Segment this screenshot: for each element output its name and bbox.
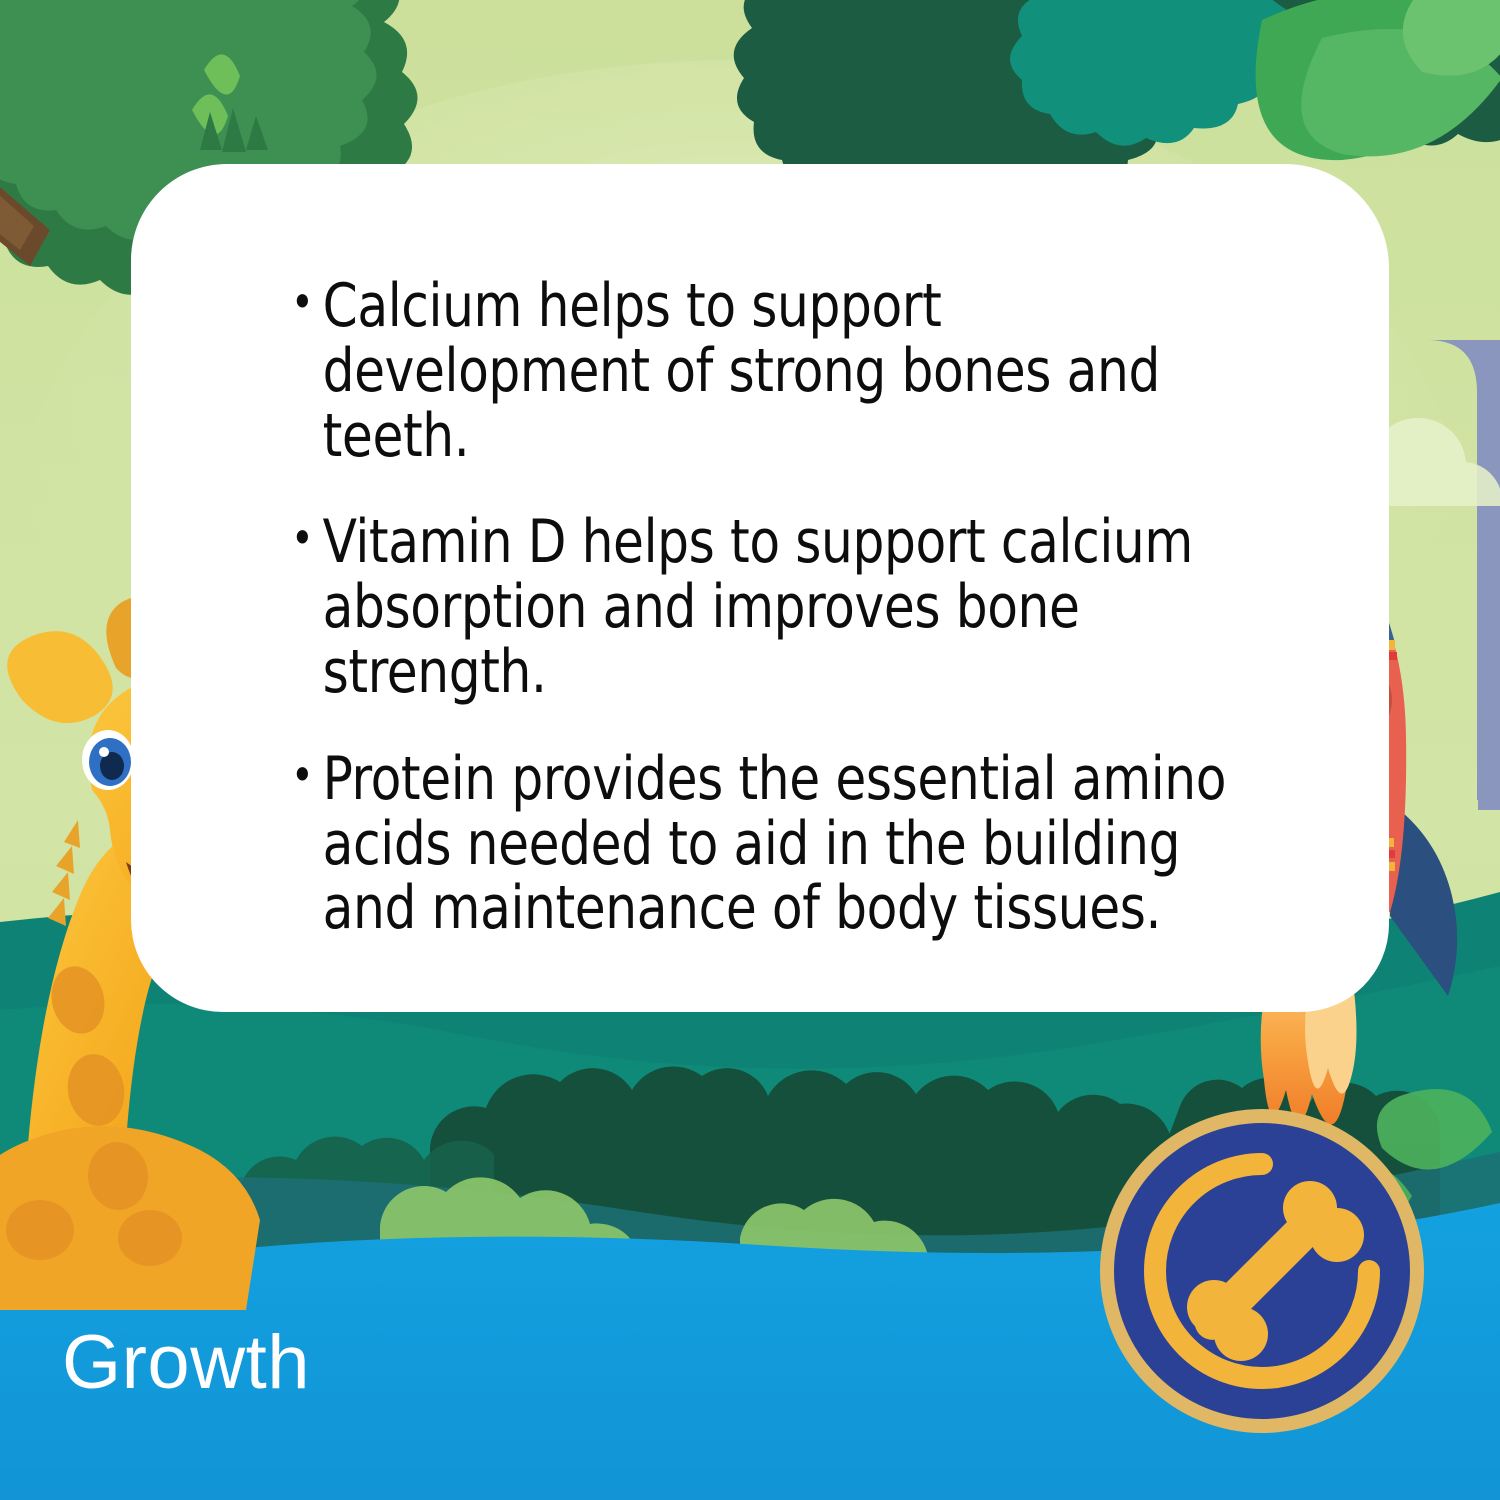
list-item: • Protein provides the essential amino a…	[291, 747, 1240, 941]
list-item: • Calcium helps to support development o…	[291, 274, 1240, 468]
poster-canvas: • Calcium helps to support development o…	[0, 0, 1500, 1500]
bullet-text: Protein provides the essential amino aci…	[323, 747, 1240, 941]
bullet-marker-icon: •	[291, 274, 323, 330]
content-card: • Calcium helps to support development o…	[131, 164, 1389, 1012]
bullet-marker-icon: •	[291, 510, 323, 566]
list-item: • Vitamin D helps to support calcium abs…	[291, 510, 1240, 704]
bone-in-circle-icon	[1097, 1106, 1427, 1436]
bullet-list: • Calcium helps to support development o…	[291, 274, 1311, 983]
bullet-marker-icon: •	[291, 747, 323, 803]
page-title: Growth	[62, 1325, 310, 1401]
bullet-text: Calcium helps to support development of …	[323, 274, 1240, 468]
bullet-text: Vitamin D helps to support calcium absor…	[323, 510, 1240, 704]
